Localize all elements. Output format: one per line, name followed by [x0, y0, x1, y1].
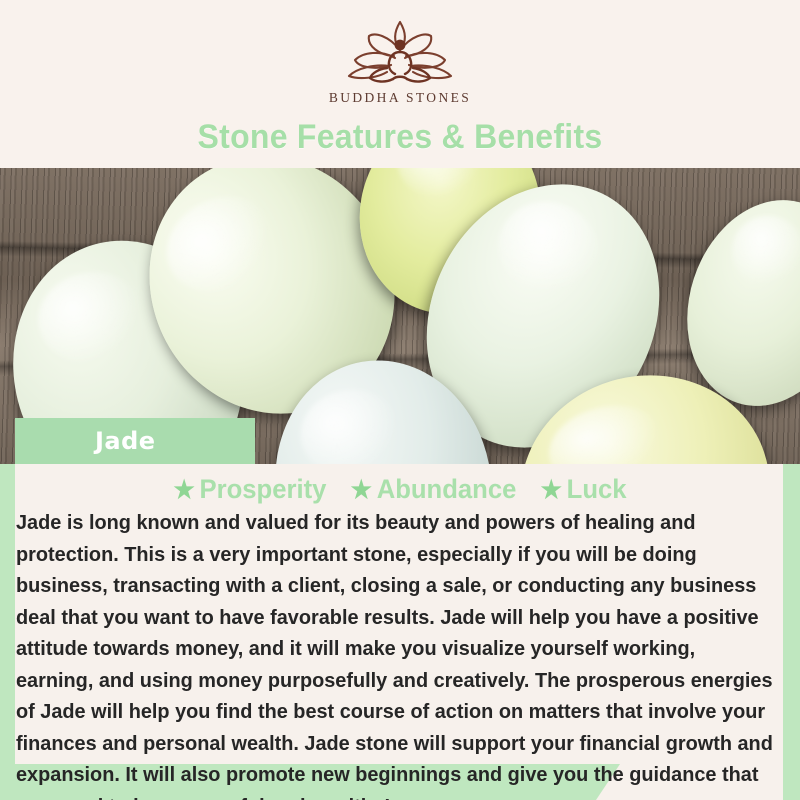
benefit-label: Luck	[567, 474, 627, 504]
stone-name-label: Jade	[95, 427, 156, 455]
benefits-row: ★Prosperity ★Abundance ★Luck	[20, 474, 780, 505]
lotus-meditation-icon	[325, 16, 475, 88]
star-icon: ★	[173, 476, 194, 504]
star-icon: ★	[351, 476, 372, 504]
description-text: Jade is long known and valued for its be…	[16, 508, 776, 800]
page-title: Stone Features & Benefits	[24, 118, 776, 157]
jade-stones-photo: Jade	[0, 168, 800, 464]
benefit-label: Abundance	[377, 474, 517, 504]
benefit-item: ★Prosperity	[173, 474, 326, 505]
brand-name: BUDDHA STONES	[0, 90, 800, 106]
stone-name-tag: Jade	[15, 418, 255, 464]
brand-logo: BUDDHA STONES	[0, 16, 800, 106]
star-icon: ★	[541, 476, 562, 504]
benefit-item: ★Luck	[541, 474, 627, 505]
benefit-item: ★Abundance	[351, 474, 517, 505]
benefit-label: Prosperity	[200, 474, 327, 504]
card-header: BUDDHA STONES Stone Features & Benefits	[0, 0, 800, 168]
stone-info-card: BUDDHA STONES Stone Features & Benefits …	[0, 0, 800, 800]
